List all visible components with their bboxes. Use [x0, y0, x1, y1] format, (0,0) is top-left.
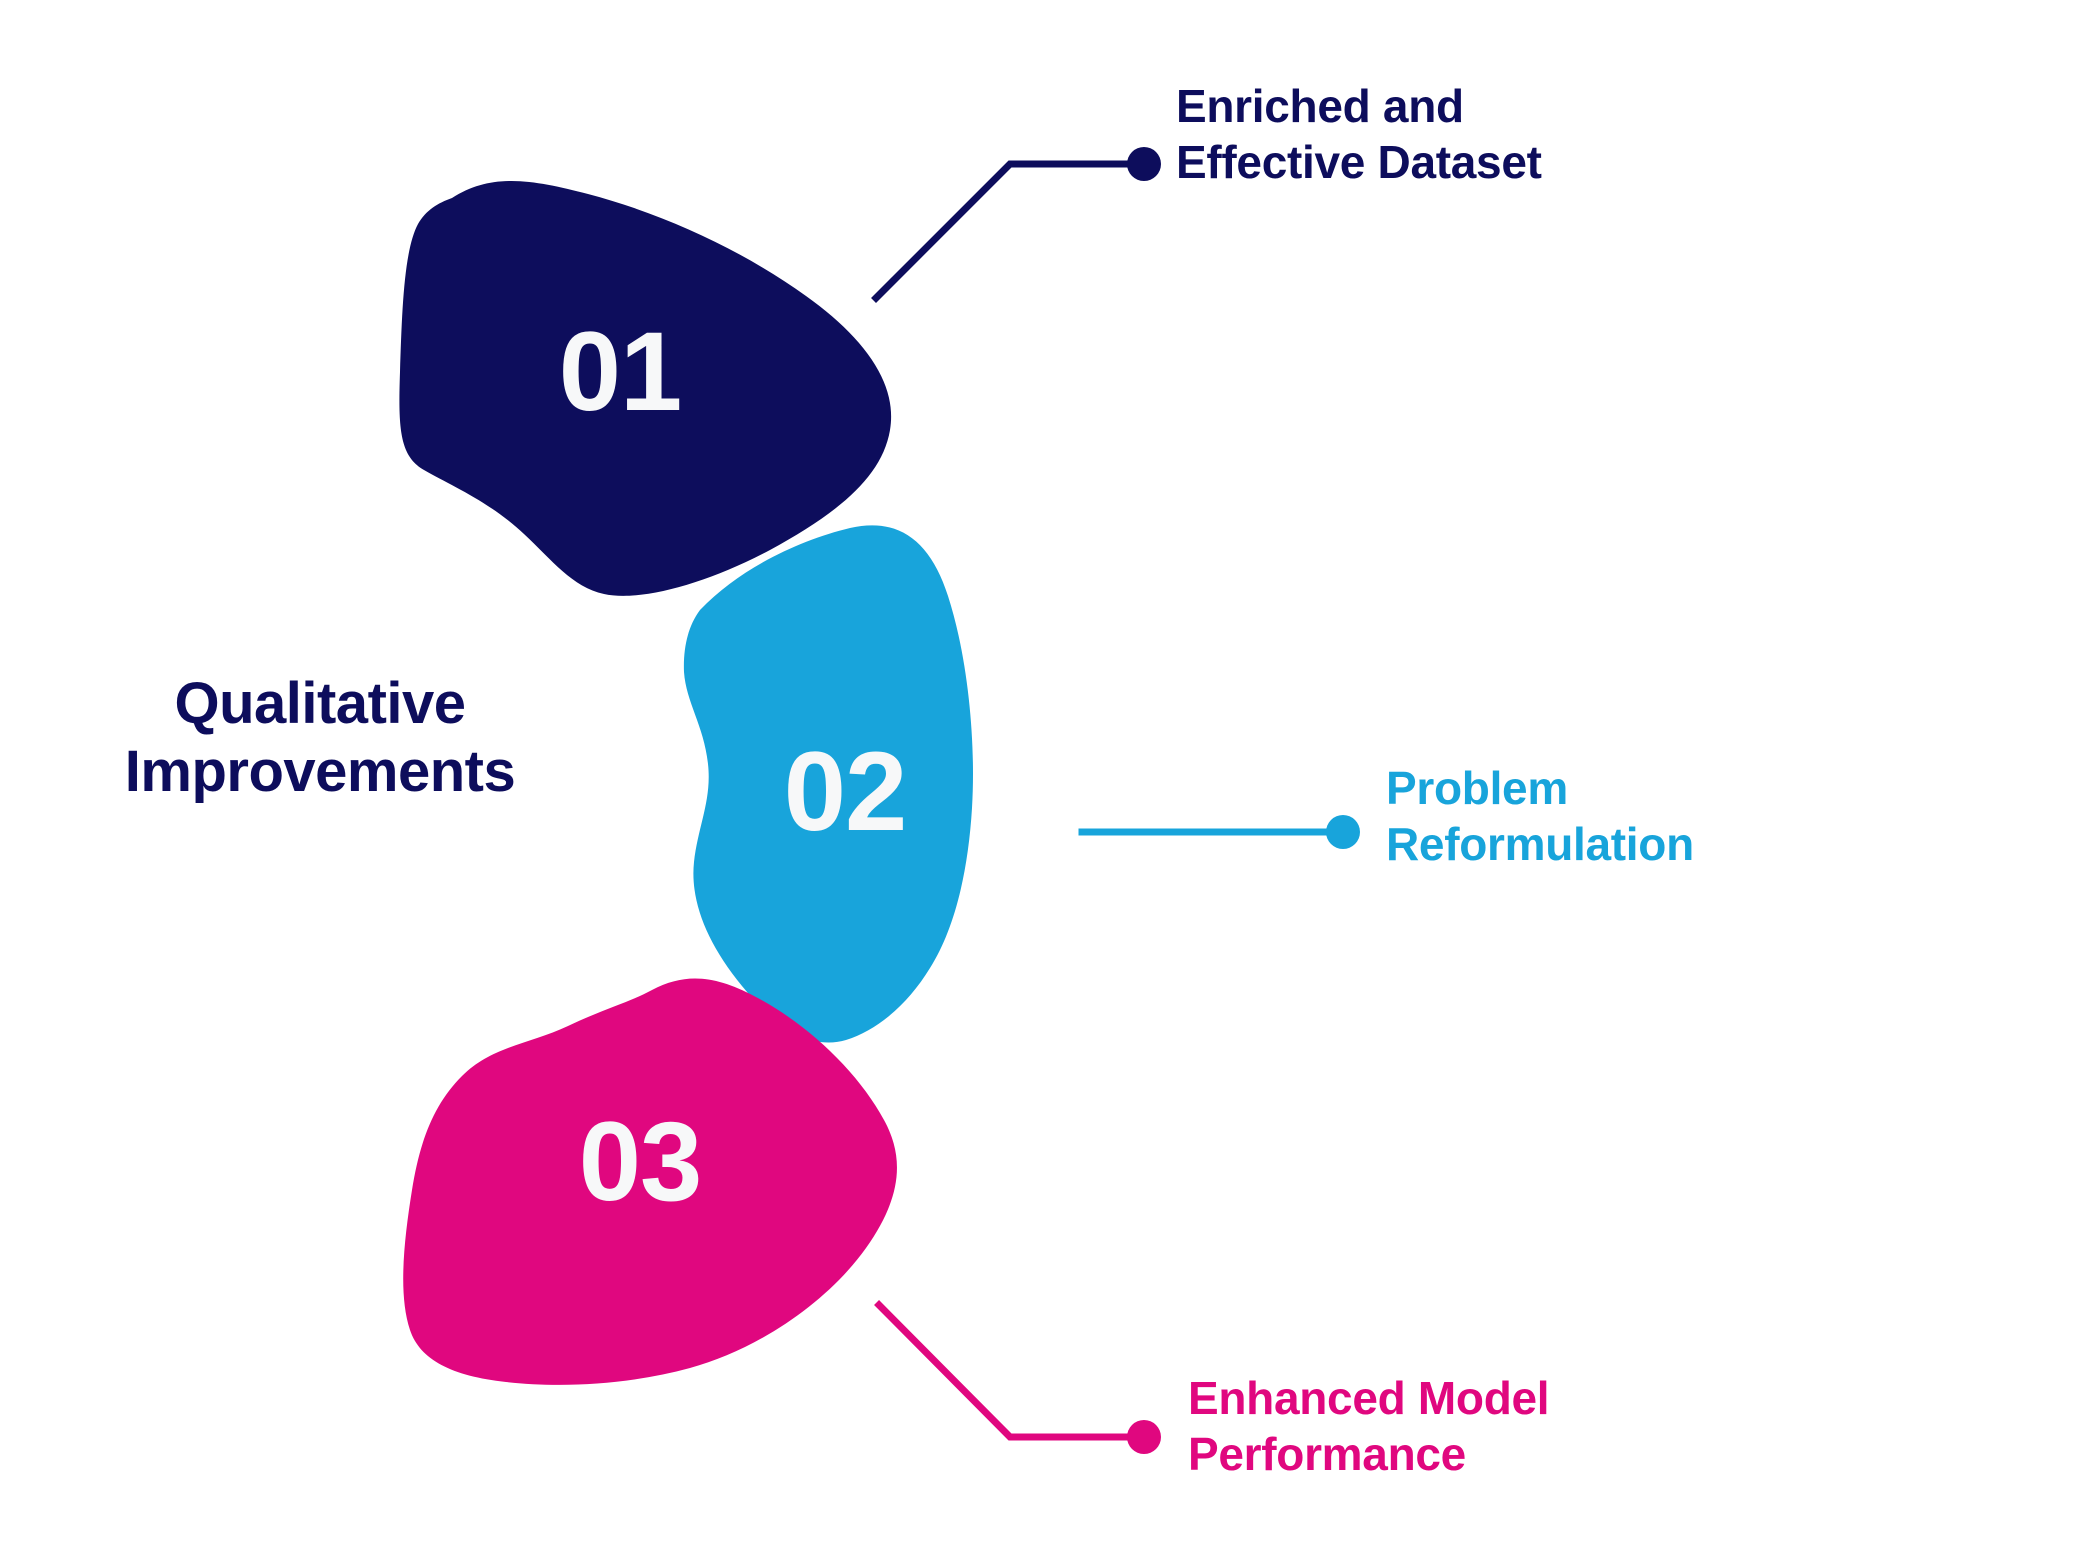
callout-label-02[interactable]: Problem Reformulation: [1386, 760, 1694, 872]
step-number-01: 01: [559, 309, 682, 434]
connector-line-01: [876, 164, 1134, 298]
callout-label-01-line-1: Enriched and: [1176, 80, 1464, 132]
step-shape-02-group[interactable]: 02: [684, 525, 973, 1042]
step-shape-01-group[interactable]: 01: [399, 181, 891, 596]
connector-01-group: [876, 147, 1161, 298]
connector-03-group: [879, 1305, 1161, 1454]
connector-dot-03: [1127, 1420, 1161, 1454]
infographic-canvas: 01 02 03 Qualitative Improvem: [0, 0, 2084, 1568]
callout-label-01[interactable]: Enriched and Effective Dataset: [1176, 78, 1542, 190]
diagram-center-title: Qualitative Improvements: [60, 670, 580, 807]
step-number-02: 02: [784, 729, 907, 854]
step-number-03: 03: [579, 1099, 702, 1224]
connector-dot-02: [1326, 815, 1360, 849]
callout-label-03-line-1: Enhanced Model: [1188, 1372, 1549, 1424]
callout-label-02-line-1: Problem: [1386, 762, 1568, 814]
callout-label-03[interactable]: Enhanced Model Performance: [1188, 1370, 1549, 1482]
center-title-line-2: Improvements: [125, 739, 515, 804]
callout-label-03-line-2: Performance: [1188, 1426, 1549, 1482]
connector-line-03: [879, 1305, 1134, 1437]
callout-label-02-line-2: Reformulation: [1386, 816, 1694, 872]
connector-02-group: [1082, 815, 1360, 849]
connector-dot-01: [1127, 147, 1161, 181]
center-title-line-1: Qualitative: [174, 671, 465, 736]
callout-label-01-line-2: Effective Dataset: [1176, 134, 1542, 190]
